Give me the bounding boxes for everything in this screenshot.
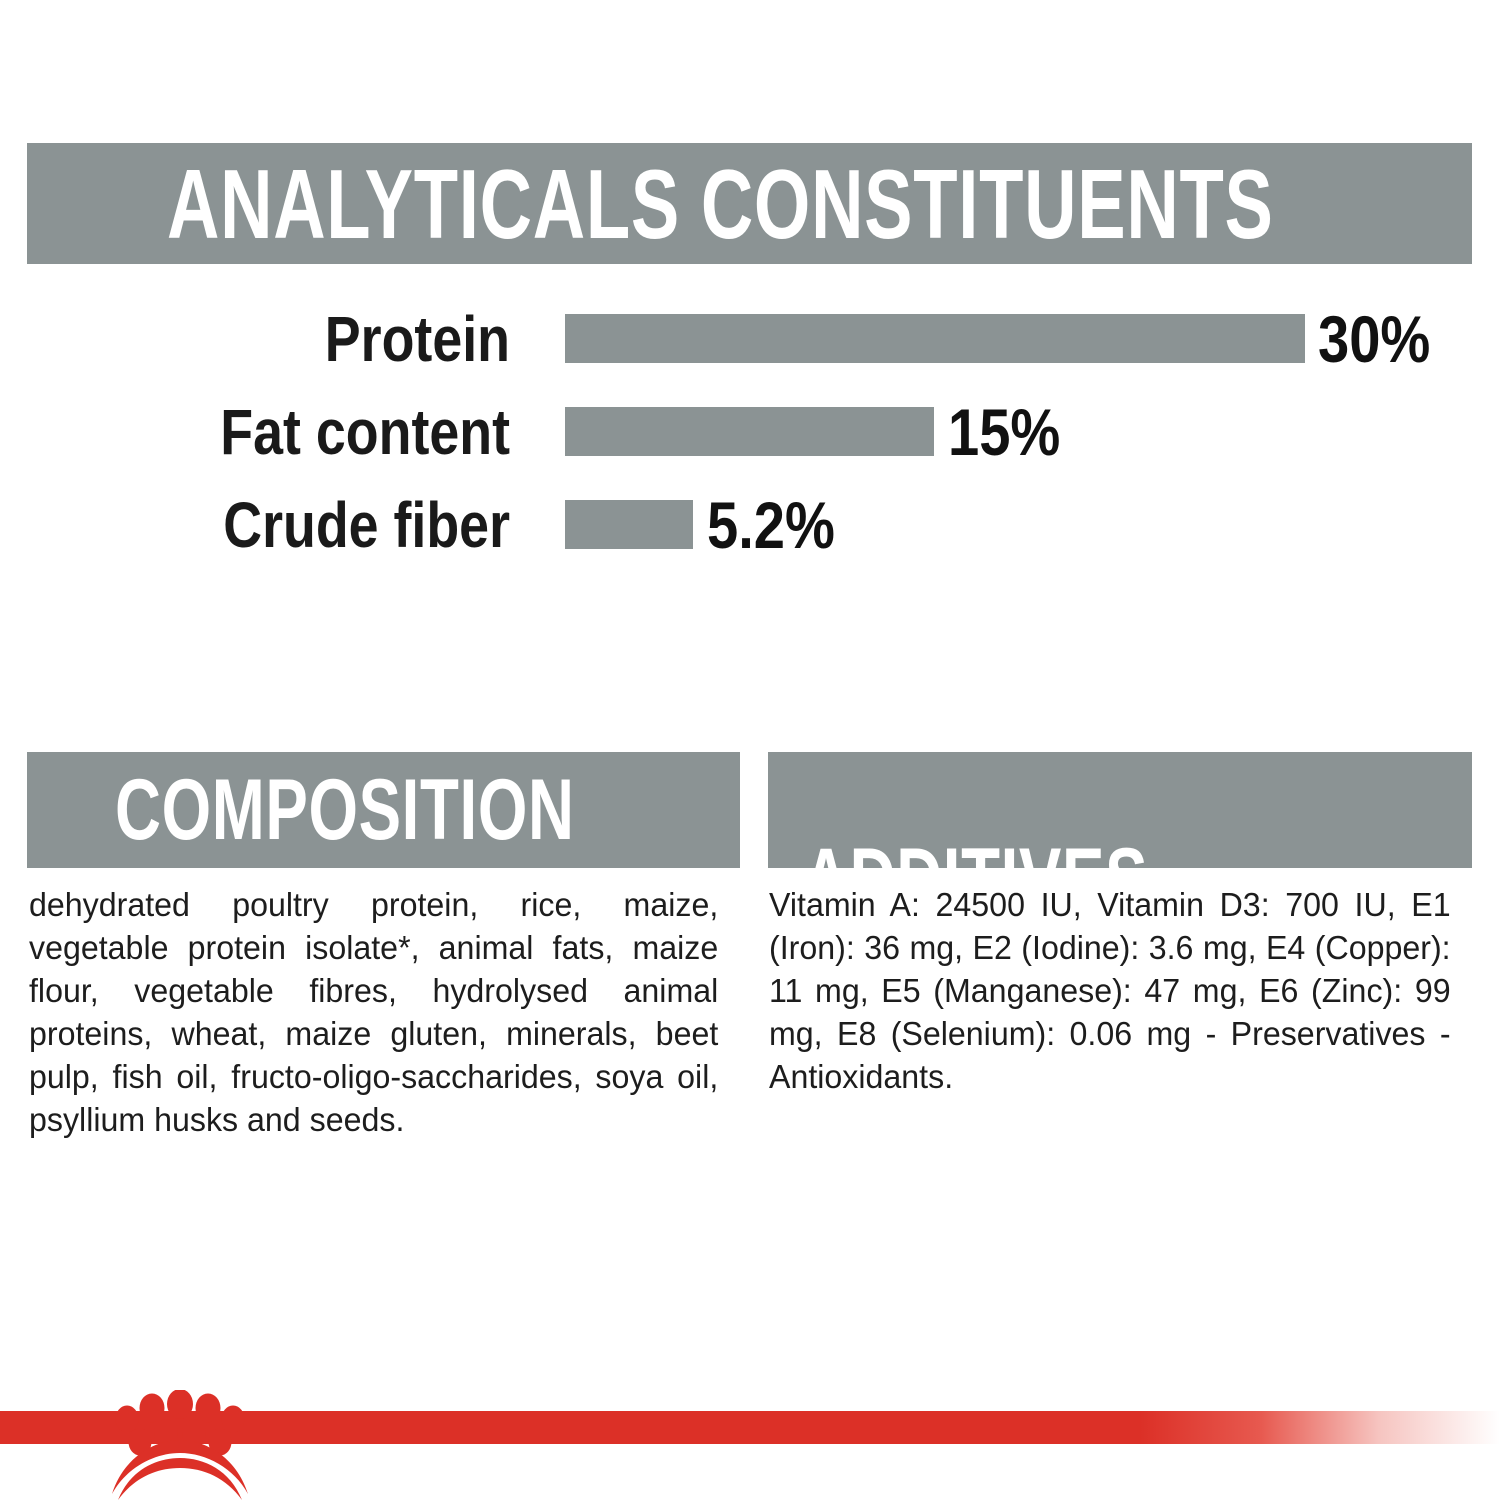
chart-bar-crude-fiber xyxy=(565,500,693,549)
chart-bar-fat-content xyxy=(565,407,934,456)
chart-label-fat-content: Fat content xyxy=(132,400,510,464)
chart-value-protein: 30% xyxy=(1318,306,1430,372)
chart-row-fat-content: Fat content 15% xyxy=(0,407,1500,456)
composition-body-text: dehydrated poultry protein, rice, maize,… xyxy=(29,884,718,1142)
additives-title: ADDITIVES xyxy=(803,836,1148,868)
additives-title-row: ADDITIVES (per kg) xyxy=(803,836,1381,868)
additives-header: ADDITIVES (per kg) xyxy=(768,752,1472,868)
chart-bar-protein xyxy=(565,314,1305,363)
analyticals-constituents-chart: Protein 30% Fat content 15% Crude fiber … xyxy=(0,300,1500,580)
product-info-panel: ANALYTICALS CONSTITUENTS Protein 30% Fat… xyxy=(0,0,1500,1500)
analyticals-constituents-title: ANALYTICALS CONSTITUENTS xyxy=(167,155,1274,253)
chart-row-crude-fiber: Crude fiber 5.2% xyxy=(0,500,1500,549)
royal-canin-crown-logo xyxy=(100,1390,260,1500)
additives-body-text: Vitamin A: 24500 IU, Vitamin D3: 700 IU,… xyxy=(769,884,1451,1099)
chart-value-crude-fiber: 5.2% xyxy=(707,492,835,558)
chart-label-protein: Protein xyxy=(132,307,510,371)
analyticals-constituents-header: ANALYTICALS CONSTITUENTS xyxy=(27,143,1472,264)
chart-row-protein: Protein 30% xyxy=(0,314,1500,363)
chart-label-crude-fiber: Crude fiber xyxy=(132,493,510,557)
composition-title: COMPOSITION xyxy=(115,767,575,853)
composition-header: COMPOSITION xyxy=(27,752,740,868)
chart-value-fat-content: 15% xyxy=(948,399,1060,465)
